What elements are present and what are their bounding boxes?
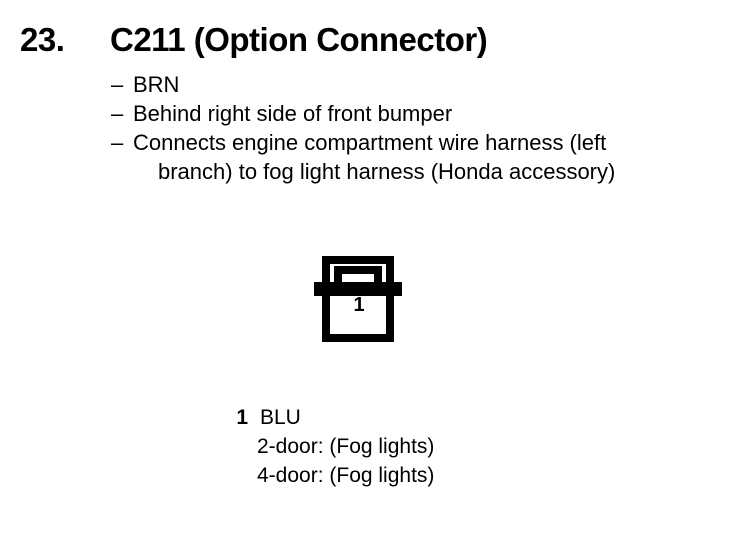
connector-reference-page: 23. C211 (Option Connector) – BRN – Behi… xyxy=(0,0,736,550)
list-item-continuation: branch) to fog light harness (Honda acce… xyxy=(111,157,721,186)
connector-diagram: 1 xyxy=(306,248,410,348)
legend-note: 4-door: (Fog lights) xyxy=(234,461,634,490)
list-item-label: BRN xyxy=(133,70,179,99)
list-item: – Connects engine compartment wire harne… xyxy=(111,128,721,157)
legend-row: 1 BLU xyxy=(234,404,634,432)
list-item-label: Behind right side of front bumper xyxy=(133,99,452,128)
connector-cavity-label: 1 xyxy=(351,295,367,315)
page-title: C211 (Option Connector) xyxy=(110,20,487,60)
description-list: – BRN – Behind right side of front bumpe… xyxy=(111,70,721,186)
list-item: – Behind right side of front bumper xyxy=(111,99,721,128)
page-heading: 23. C211 (Option Connector) xyxy=(20,20,720,62)
en-dash-icon: – xyxy=(111,128,123,157)
pin-legend: 1 BLU 2-door: (Fog lights) 4-door: (Fog … xyxy=(234,404,634,490)
en-dash-icon: – xyxy=(111,99,123,128)
legend-pin-number: 1 xyxy=(234,404,248,432)
legend-wire-color: BLU xyxy=(260,404,301,432)
heading-item-number: 23. xyxy=(20,20,64,60)
legend-note: 2-door: (Fog lights) xyxy=(234,432,634,461)
list-item-label: Connects engine compartment wire harness… xyxy=(133,128,606,157)
list-item: – BRN xyxy=(111,70,721,99)
en-dash-icon: – xyxy=(111,70,123,99)
